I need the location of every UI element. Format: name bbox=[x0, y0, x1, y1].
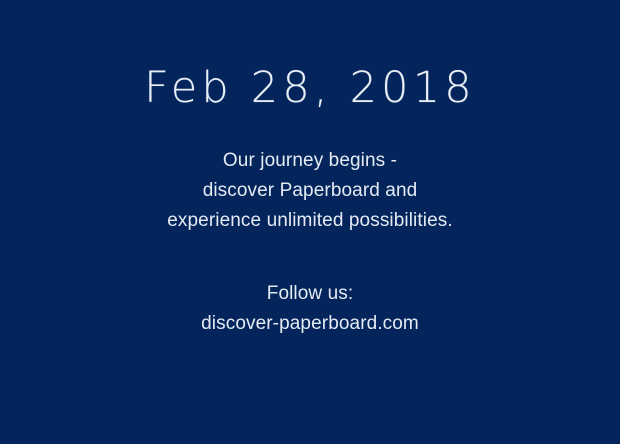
tagline-block: Our journey begins - discover Paperboard… bbox=[0, 146, 620, 236]
follow-us-label: Follow us: bbox=[0, 279, 620, 309]
website-url-link[interactable]: discover-paperboard.com bbox=[0, 309, 620, 339]
follow-block: Follow us: discover-paperboard.com bbox=[0, 279, 620, 339]
launch-date-headline: Feb 28, 2018 bbox=[0, 62, 620, 114]
tagline-line-3: experience unlimited possibilities. bbox=[0, 206, 620, 236]
tagline-line-2: discover Paperboard and bbox=[0, 176, 620, 206]
announcement-splash: Feb 28, 2018 Our journey begins - discov… bbox=[0, 0, 620, 444]
tagline-line-1: Our journey begins - bbox=[0, 146, 620, 176]
